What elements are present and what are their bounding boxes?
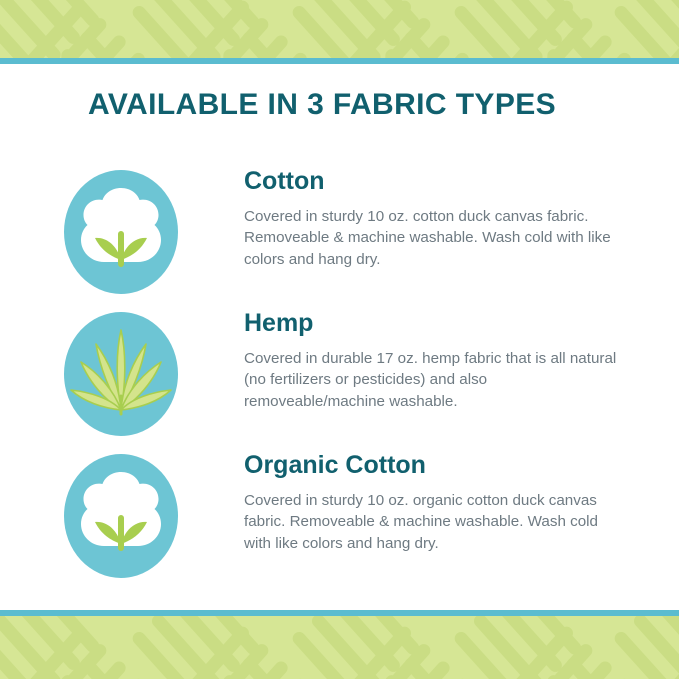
bottom-stripe-pattern-icon xyxy=(0,616,679,679)
top-decorative-band xyxy=(0,0,679,58)
fabric-types-infographic: AVAILABLE IN 3 FABRIC TYPES Cotton Cover… xyxy=(0,0,679,679)
bottom-decorative-band xyxy=(0,616,679,679)
fabric-text-organic-cotton: Organic Cotton Covered in sturdy 10 oz. … xyxy=(244,452,624,554)
cotton-boll-icon xyxy=(62,168,180,296)
fabric-name: Hemp xyxy=(244,310,624,338)
fabric-description: Covered in sturdy 10 oz. organic cotton … xyxy=(244,490,624,555)
fabric-name: Cotton xyxy=(244,168,624,196)
cotton-boll-icon xyxy=(62,452,180,580)
fabric-name: Organic Cotton xyxy=(244,452,624,480)
fabric-description: Covered in durable 17 oz. hemp fabric th… xyxy=(244,348,624,413)
fabric-text-hemp: Hemp Covered in durable 17 oz. hemp fabr… xyxy=(244,310,624,412)
fabric-text-cotton: Cotton Covered in sturdy 10 oz. cotton d… xyxy=(244,168,624,270)
top-stripe-pattern-icon xyxy=(0,0,679,58)
fabric-description: Covered in sturdy 10 oz. cotton duck can… xyxy=(244,206,624,271)
top-divider-rule xyxy=(0,58,679,64)
hemp-leaf-icon xyxy=(62,310,180,438)
page-title: AVAILABLE IN 3 FABRIC TYPES xyxy=(88,88,556,122)
